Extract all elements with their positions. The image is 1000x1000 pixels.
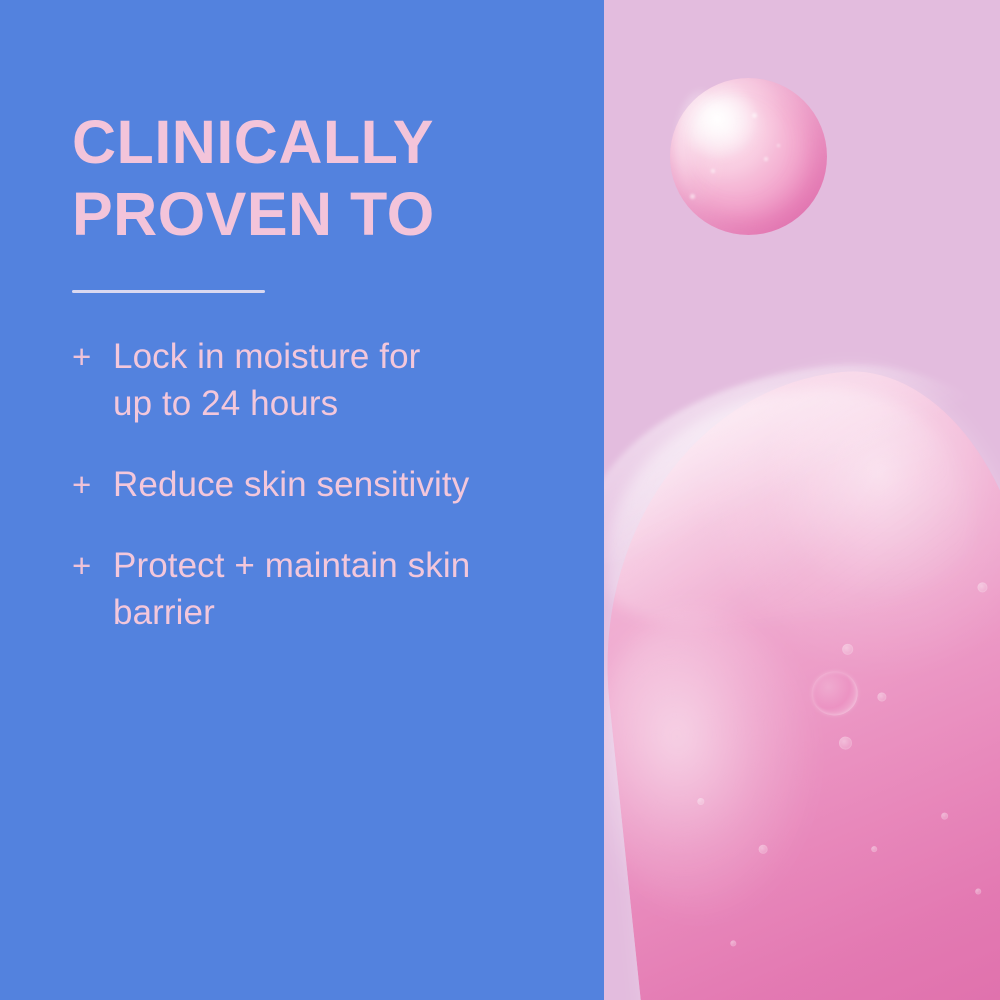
- gel-bubble: [730, 941, 737, 948]
- list-item-label: Lock in moisture for up to 24 hours: [113, 333, 572, 427]
- gel-bubble: [838, 736, 852, 750]
- gel-swatch-image: [604, 355, 1000, 1000]
- sphere-speck-icon: [777, 144, 780, 147]
- plus-icon: +: [72, 461, 91, 508]
- title-divider: [72, 290, 265, 293]
- sphere-speck-icon: [752, 113, 757, 118]
- list-item: + Reduce skin sensitivity: [72, 461, 572, 508]
- page-title: CLINICALLY PROVEN TO: [72, 106, 572, 250]
- plus-icon: +: [72, 333, 91, 380]
- gel-bubble: [977, 582, 988, 593]
- gel-bubble: [941, 812, 949, 820]
- benefit-list: + Lock in moisture for up to 24 hours + …: [72, 333, 572, 636]
- right-pink-panel: [604, 0, 1000, 1000]
- left-blue-panel: CLINICALLY PROVEN TO + Lock in moisture …: [0, 0, 604, 1000]
- list-item-label: Protect + maintain skin barrier: [113, 542, 572, 636]
- product-claim-graphic: CLINICALLY PROVEN TO + Lock in moisture …: [0, 0, 1000, 1000]
- gel-bubble: [871, 846, 878, 853]
- gel-bubble: [810, 669, 860, 718]
- gel-soft-glow: [604, 602, 830, 927]
- list-item-label: Reduce skin sensitivity: [113, 461, 572, 508]
- gel-bubble: [841, 643, 853, 655]
- gel-bubble: [975, 888, 982, 895]
- gel-sphere-image: [670, 78, 827, 235]
- sphere-speck-icon: [711, 169, 715, 173]
- plus-icon: +: [72, 542, 91, 589]
- sphere-highlight: [692, 97, 764, 160]
- gel-bubble: [877, 693, 887, 703]
- list-item: + Lock in moisture for up to 24 hours: [72, 333, 572, 427]
- list-item: + Protect + maintain skin barrier: [72, 542, 572, 636]
- sphere-speck-icon: [764, 157, 768, 161]
